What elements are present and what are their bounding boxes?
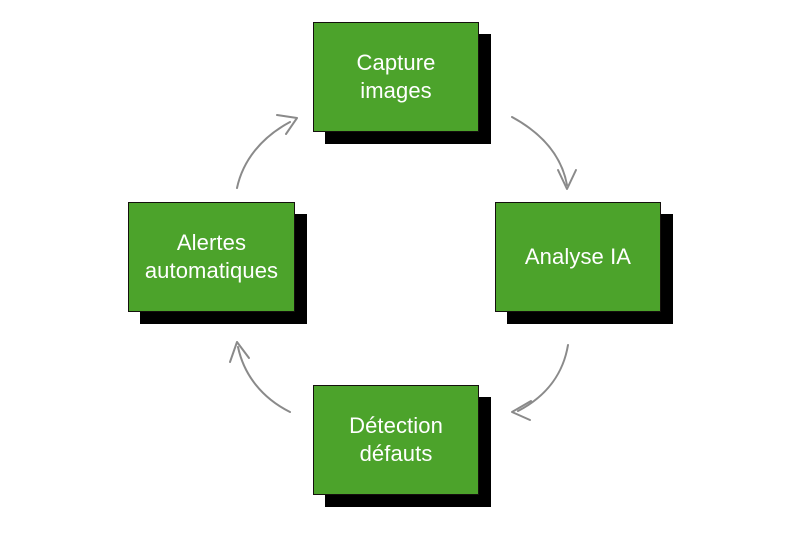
node-analyse-ia-label: Analyse IA [517,243,639,271]
node-alertes-automatiques-label: Alertes automatiques [137,229,286,285]
process-cycle-diagram: Capture images Analyse IA Détection défa… [0,0,800,533]
node-detection-defauts[interactable]: Détection défauts [313,385,479,495]
node-capture-images[interactable]: Capture images [313,22,479,132]
node-detection-defauts-label: Détection défauts [341,412,451,468]
node-capture-images-label: Capture images [314,49,478,105]
connector-capture-to-analyse [512,117,576,189]
node-analyse-ia[interactable]: Analyse IA [495,202,661,312]
connector-analyse-to-detection [512,345,568,420]
connector-detection-to-alertes [230,342,290,412]
node-alertes-automatiques[interactable]: Alertes automatiques [128,202,295,312]
connector-alertes-to-capture [237,115,297,188]
